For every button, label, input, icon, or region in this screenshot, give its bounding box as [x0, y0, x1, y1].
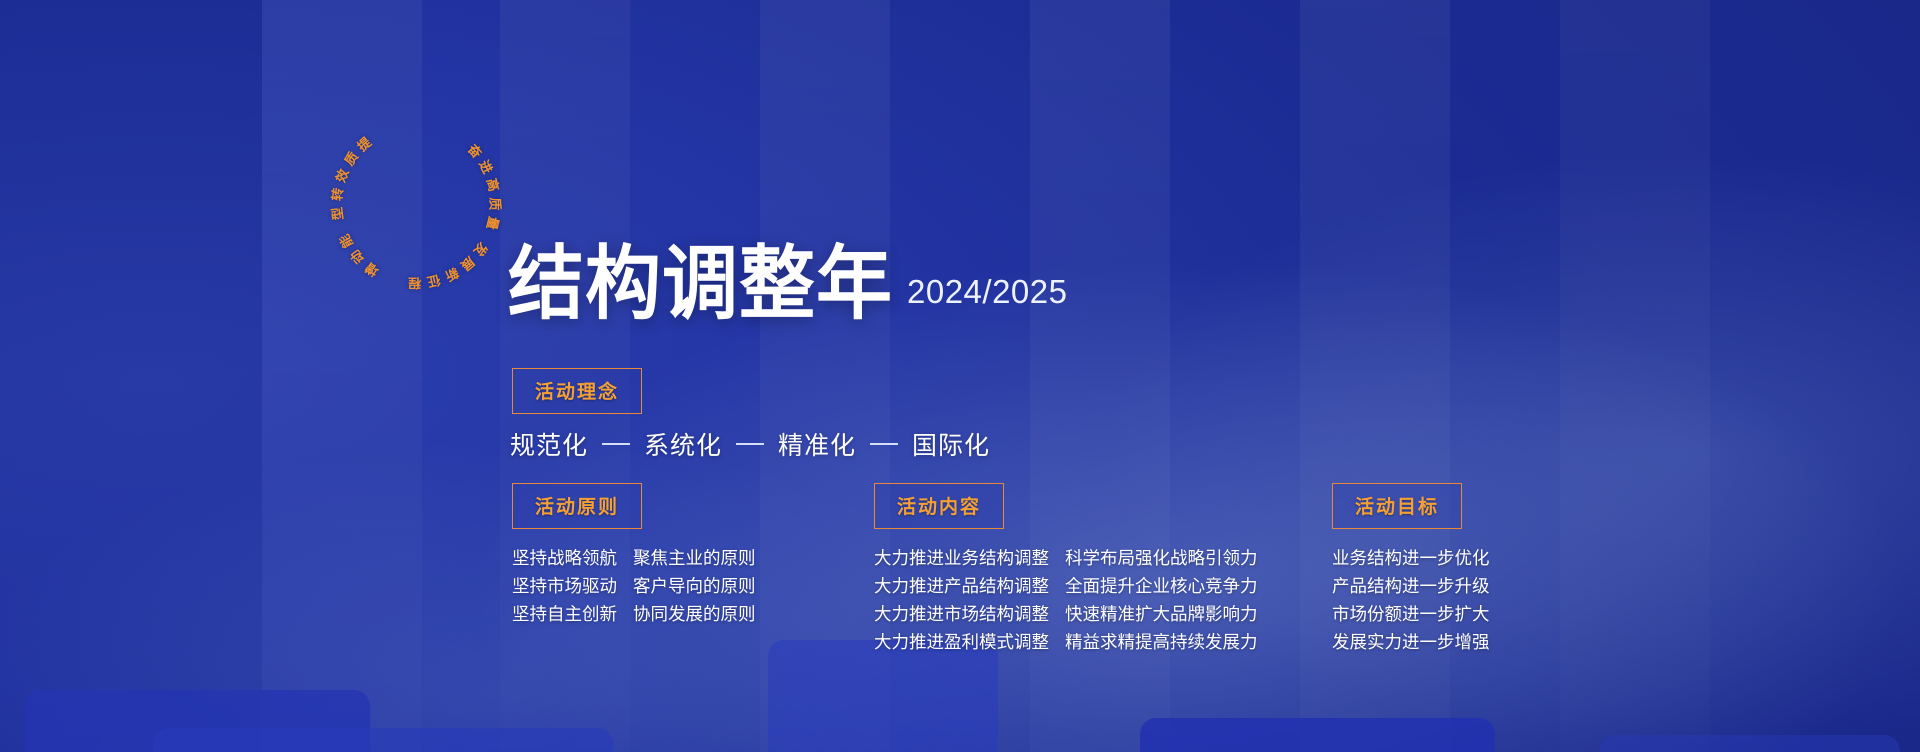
principle-2-a: 坚持市场驱动 [512, 573, 617, 601]
concept-item-4: 国际化 [912, 426, 990, 462]
list-item: 发展实力进一步增强 [1332, 629, 1490, 657]
content-4-a: 大力推进盈利模式调整 [874, 629, 1049, 657]
title-years: 2024/2025 [907, 273, 1068, 321]
goal-4: 发展实力进一步增强 [1332, 629, 1490, 657]
hero-title-row: 结构调整年 2024/2025 [508, 248, 1068, 321]
concept-separator-3 [870, 443, 898, 445]
band-6 [1560, 0, 1710, 752]
content-4-b: 精益求精提高持续发展力 [1065, 629, 1258, 657]
list-item: 业务结构进一步优化 [1332, 545, 1490, 573]
list-item: 坚持市场驱动 客户导向的原则 [512, 573, 756, 601]
list-item: 大力推进盈利模式调整 精益求精提高持续发展力 [874, 629, 1258, 657]
contents-rows: 大力推进业务结构调整 科学布局强化战略引领力 大力推进产品结构调整 全面提升企业… [874, 545, 1258, 657]
concept-item-3: 精准化 [778, 426, 856, 462]
content-1-a: 大力推进业务结构调整 [874, 545, 1049, 573]
concept-item-1: 规范化 [510, 426, 588, 462]
content-1-b: 科学布局强化战略引领力 [1065, 545, 1258, 573]
column-goals: 活动目标 业务结构进一步优化 产品结构进一步升级 市场份额进一步扩大 发展实力进… [1332, 483, 1490, 657]
principle-1-a: 坚持战略领航 [512, 545, 617, 573]
plate-d [1140, 718, 1495, 752]
badge-goals-label: 活动目标 [1355, 492, 1439, 519]
list-item: 产品结构进一步升级 [1332, 573, 1490, 601]
content-3-b: 快速精准扩大品牌影响力 [1065, 601, 1258, 629]
promo-banner: 奋 进 高 质 量 发 展 新 征 程 增 动 能 型 转 效 质 提 结构调整… [0, 0, 1920, 752]
concept-item-2: 系统化 [644, 426, 722, 462]
concept-keywords: 规范化 系统化 精准化 国际化 [510, 426, 990, 462]
goal-2: 产品结构进一步升级 [1332, 573, 1490, 601]
concept-separator-2 [736, 443, 764, 445]
content-2-b: 全面提升企业核心竞争力 [1065, 573, 1258, 601]
content-2-a: 大力推进产品结构调整 [874, 573, 1049, 601]
column-contents: 活动内容 大力推进业务结构调整 科学布局强化战略引领力 大力推进产品结构调整 全… [874, 483, 1258, 657]
badge-contents-label: 活动内容 [897, 492, 981, 519]
goal-3: 市场份额进一步扩大 [1332, 601, 1490, 629]
list-item: 大力推进业务结构调整 科学布局强化战略引领力 [874, 545, 1258, 573]
plate-e [1600, 735, 1900, 752]
principles-rows: 坚持战略领航 聚焦主业的原则 坚持市场驱动 客户导向的原则 坚持自主创新 协同发… [512, 545, 756, 629]
badge-principles-label: 活动原则 [535, 492, 619, 519]
band-1 [262, 0, 422, 752]
list-item: 市场份额进一步扩大 [1332, 601, 1490, 629]
band-3 [760, 0, 890, 752]
band-dark-1 [0, 0, 262, 752]
goals-rows: 业务结构进一步优化 产品结构进一步升级 市场份额进一步扩大 发展实力进一步增强 [1332, 545, 1490, 657]
principle-1-b: 聚焦主业的原则 [633, 545, 756, 573]
list-item: 坚持自主创新 协同发展的原则 [512, 601, 756, 629]
list-item: 坚持战略领航 聚焦主业的原则 [512, 545, 756, 573]
badge-goals: 活动目标 [1332, 483, 1462, 529]
plate-a [25, 690, 370, 752]
column-principles: 活动原则 坚持战略领航 聚焦主业的原则 坚持市场驱动 客户导向的原则 坚持自主创… [512, 483, 756, 629]
principle-2-b: 客户导向的原则 [633, 573, 756, 601]
content-3-a: 大力推进市场结构调整 [874, 601, 1049, 629]
plate-b [153, 728, 613, 752]
list-item: 大力推进产品结构调整 全面提升企业核心竞争力 [874, 573, 1258, 601]
concept-separator-1 [602, 443, 630, 445]
page-title: 结构调整年 [508, 246, 893, 323]
goal-1: 业务结构进一步优化 [1332, 545, 1490, 573]
principle-3-a: 坚持自主创新 [512, 601, 617, 629]
badge-principles: 活动原则 [512, 483, 642, 529]
badge-contents: 活动内容 [874, 483, 1004, 529]
circular-slogan-ring: 奋 进 高 质 量 发 展 新 征 程 增 动 能 型 转 效 质 提 [330, 118, 502, 290]
list-item: 大力推进市场结构调整 快速精准扩大品牌影响力 [874, 601, 1258, 629]
badge-concept: 活动理念 [512, 368, 642, 414]
principle-3-b: 协同发展的原则 [633, 601, 756, 629]
badge-concept-label: 活动理念 [535, 377, 619, 404]
